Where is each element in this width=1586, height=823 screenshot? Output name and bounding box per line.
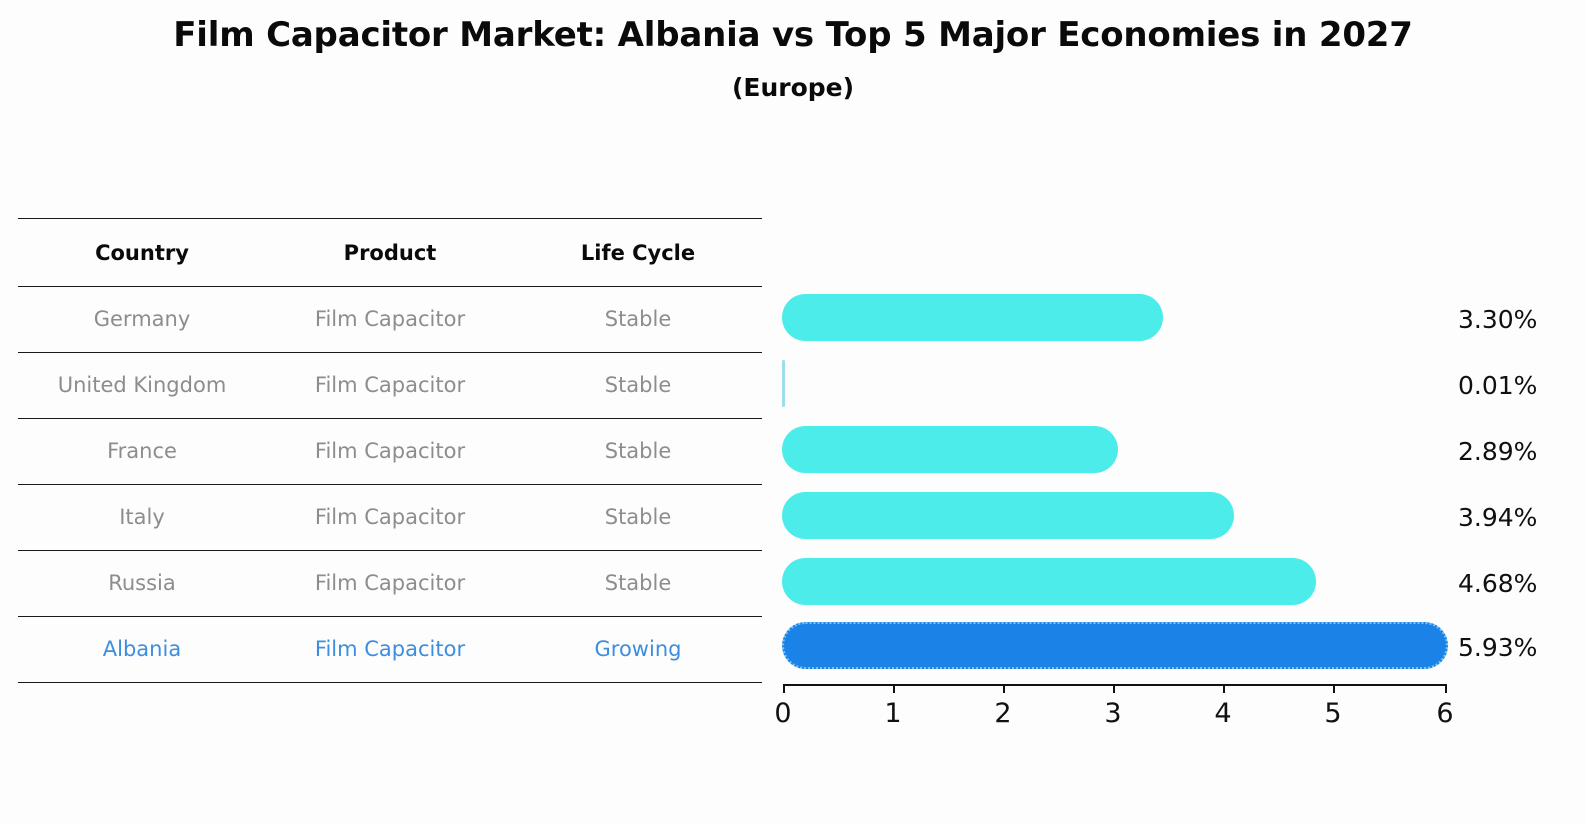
x-axis-tick-label: 2 [994, 698, 1011, 729]
bar-albania[interactable] [782, 622, 1448, 669]
chart-root: Film Capacitor Market: Albania vs Top 5 … [0, 0, 1586, 823]
x-axis-tick-label: 3 [1104, 698, 1121, 729]
bar-united-kingdom[interactable] [782, 360, 785, 407]
bar-value-albania: 5.93% [1458, 633, 1537, 662]
bar-value-italy: 3.94% [1458, 503, 1537, 532]
x-axis-tick [893, 684, 895, 693]
x-axis-tick-label: 6 [1436, 698, 1453, 729]
x-axis-tick [1333, 684, 1335, 693]
bars-layer: 3.30% 0.01% 2.89% 3.94% 4.68% 5.93% [0, 0, 1586, 823]
x-axis-tick [783, 684, 785, 693]
bar-france[interactable] [782, 426, 1118, 473]
bar-value-united-kingdom: 0.01% [1458, 371, 1537, 400]
bar-germany[interactable] [782, 294, 1163, 341]
x-axis-tick-label: 0 [774, 698, 791, 729]
bar-value-russia: 4.68% [1458, 569, 1537, 598]
x-axis-tick-label: 4 [1214, 698, 1231, 729]
x-axis-tick-label: 5 [1324, 698, 1341, 729]
x-axis-tick [1003, 684, 1005, 693]
x-axis-tick [1445, 684, 1447, 693]
bar-value-france: 2.89% [1458, 437, 1537, 466]
bar-italy[interactable] [782, 492, 1234, 539]
x-axis-tick [1113, 684, 1115, 693]
x-axis-tick-label: 1 [884, 698, 901, 729]
x-axis-tick [1223, 684, 1225, 693]
bar-russia[interactable] [782, 558, 1316, 605]
bar-value-germany: 3.30% [1458, 305, 1537, 334]
